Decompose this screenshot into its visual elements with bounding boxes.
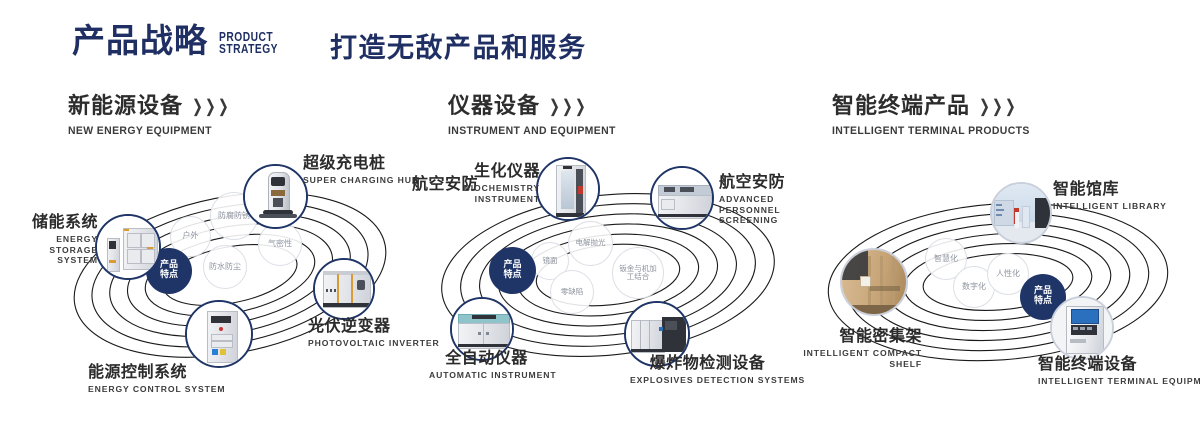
label-terminal-equipment-cn: 智能终端设备: [1038, 356, 1200, 373]
section-title-intelligent-terminal: 智能终端产品 ❯❯❯ INTELLIGENT TERMINAL PRODUCTS: [832, 96, 1040, 137]
label-compact-shelf-en: INTELLIGENT COMPACT SHELF: [800, 348, 922, 369]
section-title-new-energy-en: NEW ENERGY EQUIPMENT: [68, 125, 222, 137]
label-explosives-detection: 爆炸物检测设备 EXPLOSIVES DETECTION SYSTEMS: [630, 355, 785, 386]
node-charging-hub[interactable]: [243, 164, 308, 229]
node-intelligent-library[interactable]: [990, 182, 1052, 244]
label-energy-storage-en: ENERGY STORAGE SYSTEM: [6, 234, 98, 266]
label-explosives-detection-en: EXPLOSIVES DETECTION SYSTEMS: [630, 375, 785, 386]
node-terminal-equipment[interactable]: [1050, 296, 1114, 360]
label-compact-shelf: 智能密集架 INTELLIGENT COMPACT SHELF: [800, 328, 922, 369]
node-biochemistry-instrument[interactable]: [536, 157, 600, 221]
label-energy-storage: 储能系统 ENERGY STORAGE SYSTEM: [6, 214, 98, 266]
node-compact-shelf[interactable]: [840, 248, 908, 316]
feature-bubble: 防水防尘: [203, 245, 247, 289]
label-biochemistry-instrument: 生化仪器 BIOCHEMISTRY INSTRUMENT: [450, 163, 540, 204]
section-title-intelligent-terminal-en: INTELLIGENT TERMINAL PRODUCTS: [832, 125, 1030, 137]
page-header: 产品战略 PRODUCT STRATEGY: [72, 24, 291, 57]
feature-bubble: 钣金与机加工结合: [612, 247, 664, 299]
label-personnel-screening: 航空安防 ADVANCED PERSONNEL SCREENING: [719, 174, 824, 226]
label-charging-hub: 超级充电桩 SUPER CHARGING HUB: [303, 155, 419, 186]
section-title-intelligent-terminal-cn-text: 智能终端产品: [832, 96, 970, 118]
core-bubble-line2: 特点: [503, 271, 521, 281]
label-energy-control-cn: 能源控制系统: [88, 364, 225, 381]
label-charging-hub-en: SUPER CHARGING HUB: [303, 175, 419, 186]
product-strategy-infographic: 产品战略 PRODUCT STRATEGY 打造无敌产品和服务 新能源设备 ❯❯…: [0, 0, 1200, 422]
label-automatic-instrument-cn: 全自动仪器: [429, 350, 544, 367]
page-slogan: 打造无敌产品和服务: [330, 35, 587, 62]
page-title-en-line2: STRATEGY: [219, 43, 278, 55]
label-biochemistry-instrument-cn: 生化仪器: [450, 163, 540, 180]
feature-bubble: 零缺陷: [550, 270, 594, 314]
section-title-new-energy: 新能源设备 ❯❯❯ NEW ENERGY EQUIPMENT: [68, 96, 230, 137]
label-automatic-instrument-en: AUTOMATIC INSTRUMENT: [429, 370, 544, 381]
label-pv-inverter-en: PHOTOVOLTAIC INVERTER: [308, 338, 440, 349]
label-terminal-equipment-en: INTELLIGENT TERMINAL EQUIPMENT: [1038, 376, 1200, 387]
section-title-intelligent-terminal-cn: 智能终端产品 ❯❯❯: [832, 96, 1040, 118]
label-intelligent-library-en: INTELLIGENT LIBRARY: [1053, 201, 1167, 212]
section-title-instrument: 仪器设备 ❯❯❯ INSTRUMENT AND EQUIPMENT: [448, 96, 625, 137]
page-title-en: PRODUCT STRATEGY: [219, 31, 278, 55]
section-title-new-energy-cn: 新能源设备 ❯❯❯: [68, 96, 230, 118]
core-bubble-line2: 特点: [160, 271, 178, 281]
cluster-new-energy: 户外 防腐防锈 气密性 防水防尘 产品 特点: [60, 160, 400, 390]
node-energy-storage[interactable]: [95, 214, 161, 280]
label-intelligent-library-cn: 智能馆库: [1053, 181, 1167, 198]
section-title-new-energy-cn-text: 新能源设备: [68, 96, 183, 118]
feature-bubble: 电解抛光: [568, 221, 613, 266]
node-energy-control[interactable]: [185, 300, 253, 368]
core-bubble-instrument: 产品 特点: [489, 247, 536, 294]
node-pv-inverter[interactable]: [313, 258, 375, 320]
page-title: 产品战略: [72, 24, 208, 57]
label-energy-control: 能源控制系统 ENERGY CONTROL SYSTEM: [88, 364, 225, 395]
label-energy-storage-cn: 储能系统: [6, 214, 98, 231]
label-personnel-screening-cn: 航空安防: [719, 174, 824, 191]
label-charging-hub-cn: 超级充电桩: [303, 155, 419, 172]
chevron-right-icon: ❯❯❯: [979, 101, 1017, 114]
label-compact-shelf-cn: 智能密集架: [800, 328, 922, 345]
section-title-instrument-cn: 仪器设备 ❯❯❯: [448, 96, 625, 118]
core-bubble-line2: 特点: [1034, 297, 1052, 307]
label-terminal-equipment: 智能终端设备 INTELLIGENT TERMINAL EQUIPMENT: [1038, 356, 1200, 387]
label-explosives-detection-cn: 爆炸物检测设备: [630, 355, 785, 372]
label-biochemistry-instrument-en: BIOCHEMISTRY INSTRUMENT: [450, 183, 540, 204]
chevron-right-icon: ❯❯❯: [192, 101, 230, 114]
node-personnel-screening[interactable]: [650, 166, 714, 230]
section-title-instrument-cn-text: 仪器设备: [448, 96, 540, 118]
label-intelligent-library: 智能馆库 INTELLIGENT LIBRARY: [1053, 181, 1167, 212]
label-energy-control-en: ENERGY CONTROL SYSTEM: [88, 384, 225, 395]
label-pv-inverter: 光伏逆变器 PHOTOVOLTAIC INVERTER: [308, 318, 440, 349]
chevron-right-icon: ❯❯❯: [549, 101, 587, 114]
label-automatic-instrument: 全自动仪器 AUTOMATIC INSTRUMENT: [429, 350, 544, 381]
section-title-instrument-en: INSTRUMENT AND EQUIPMENT: [448, 125, 616, 137]
label-pv-inverter-cn: 光伏逆变器: [308, 318, 440, 335]
label-personnel-screening-en: ADVANCED PERSONNEL SCREENING: [719, 194, 824, 226]
